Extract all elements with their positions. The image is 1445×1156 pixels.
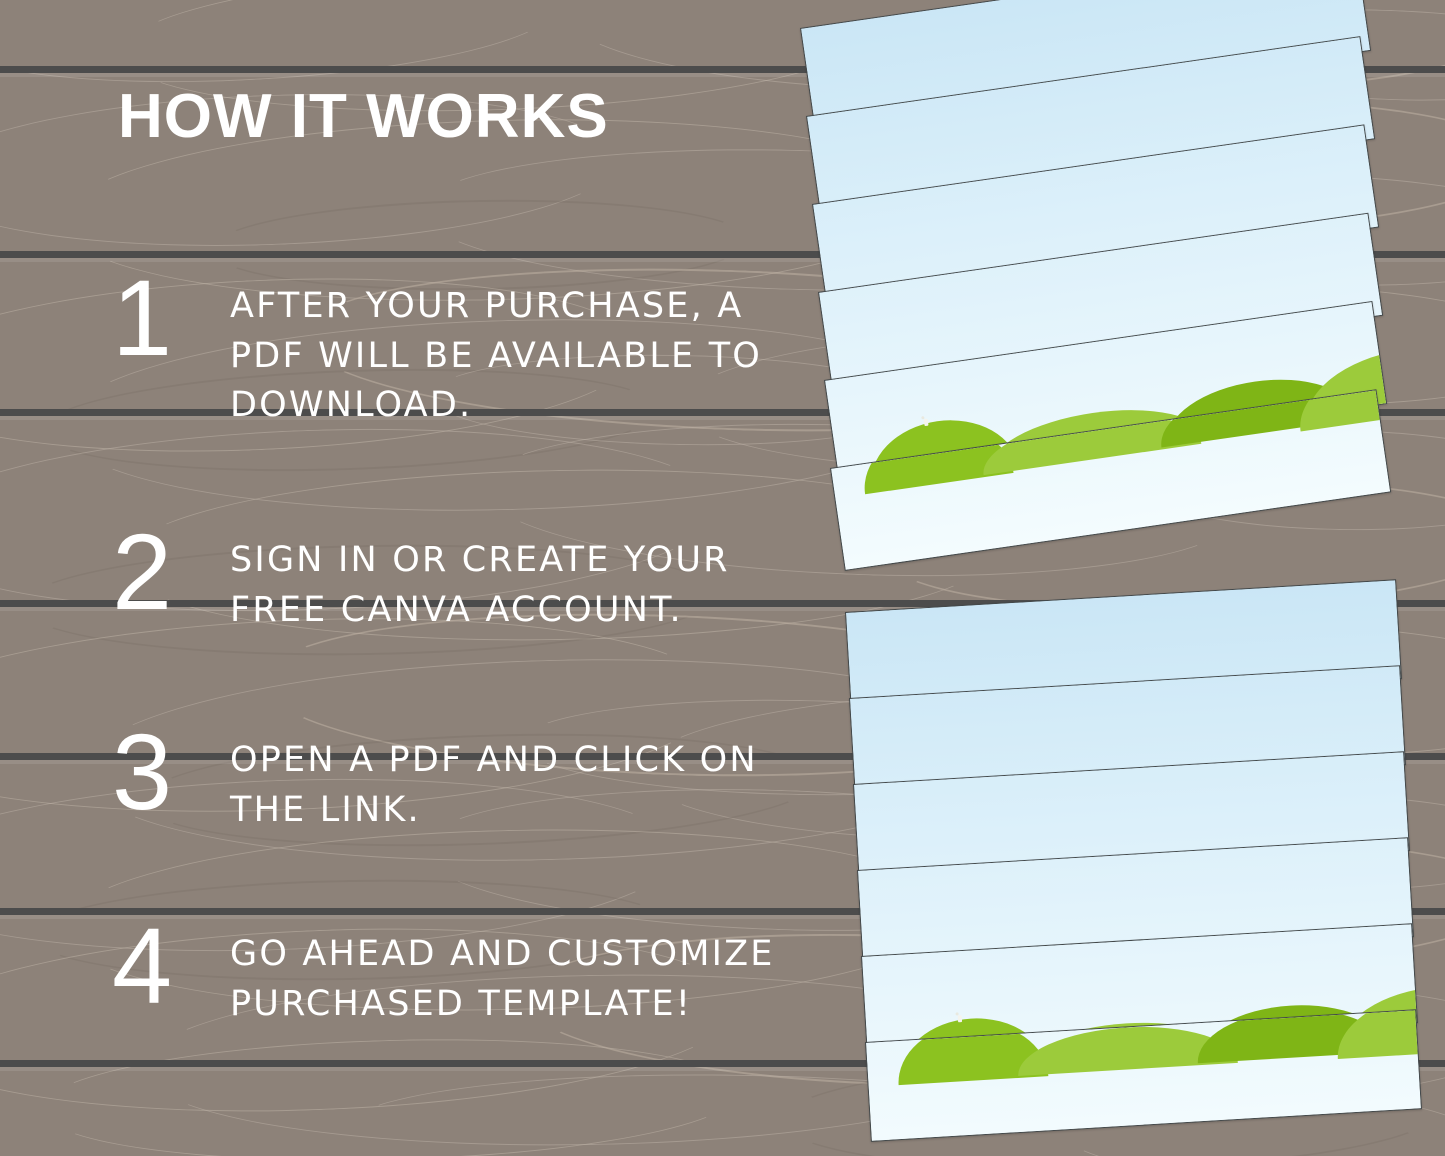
poster-canvas: HOW IT WORKS 1 AFTER YOUR PURCHASE, A PD… — [0, 0, 1445, 1156]
step-item-1: 1 AFTER YOUR PURCHASE, A PDF WILL BE AVA… — [112, 268, 812, 431]
step-item-2: 2 SIGN IN OR CREATE YOUR FREE CANVA ACCO… — [112, 522, 812, 635]
step-number-3: 3 — [112, 722, 230, 821]
tiny-figure-icon — [958, 1015, 962, 1022]
step-item-4: 4 GO AHEAD AND CUSTOMIZE PURCHASED TEMPL… — [112, 916, 812, 1029]
step-number-2: 2 — [112, 522, 230, 621]
tiny-figure-icon — [924, 419, 929, 426]
step-text-4: GO AHEAD AND CUSTOMIZE PURCHASED TEMPLAT… — [230, 916, 812, 1029]
step-item-3: 3 OPEN A PDF AND CLICK ON THE LINK. — [112, 722, 812, 835]
step-number-1: 1 — [112, 268, 230, 367]
step-text-3: OPEN A PDF AND CLICK ON THE LINK. — [230, 722, 812, 835]
step-text-2: SIGN IN OR CREATE YOUR FREE CANVA ACCOUN… — [230, 522, 812, 635]
upper-paper-stack — [800, 28, 1400, 568]
step-number-4: 4 — [112, 916, 230, 1015]
step-text-1: AFTER YOUR PURCHASE, A PDF WILL BE AVAIL… — [230, 268, 812, 431]
page-title: HOW IT WORKS — [118, 86, 609, 148]
lower-paper-stack — [845, 612, 1415, 1132]
